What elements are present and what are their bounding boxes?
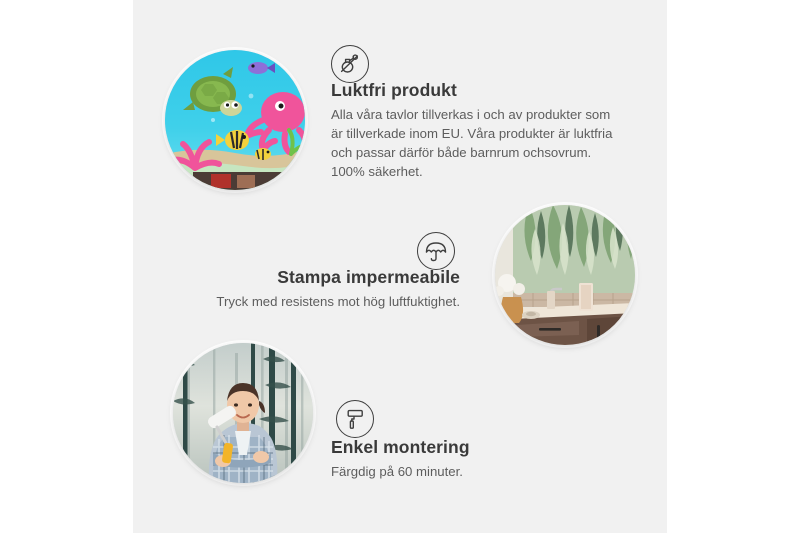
- woman-with-paint-roller-forest-photo: [173, 343, 313, 483]
- feature-title: Enkel montering: [331, 437, 621, 458]
- feature-body: Färgdig på 60 minuter.: [331, 462, 621, 481]
- bathroom-tropical-wallpaper-photo: [495, 205, 635, 345]
- feature-title: Stampa impermeabile: [170, 267, 460, 288]
- feature-text-impermeabile: Stampa impermeabile Tryck med resistens …: [170, 267, 460, 311]
- paint-roller-icon: [336, 400, 374, 438]
- feature-text-montering: Enkel montering Färgdig på 60 minuter.: [331, 437, 621, 481]
- promo-infographic: Luktfri produkt Alla våra tavlor tillver…: [0, 0, 800, 533]
- feature-text-luktfri: Luktfri produkt Alla våra tavlor tillver…: [331, 80, 621, 181]
- no-smell-perfume-icon: [331, 45, 369, 83]
- feature-body: Alla våra tavlor tillverkas i och av pro…: [331, 105, 621, 181]
- feature-body: Tryck med resistens mot hög luftfuktighe…: [170, 292, 460, 311]
- feature-title: Luktfri produkt: [331, 80, 621, 101]
- umbrella-icon: [417, 232, 455, 270]
- underwater-cartoon-scene-photo: [165, 50, 305, 190]
